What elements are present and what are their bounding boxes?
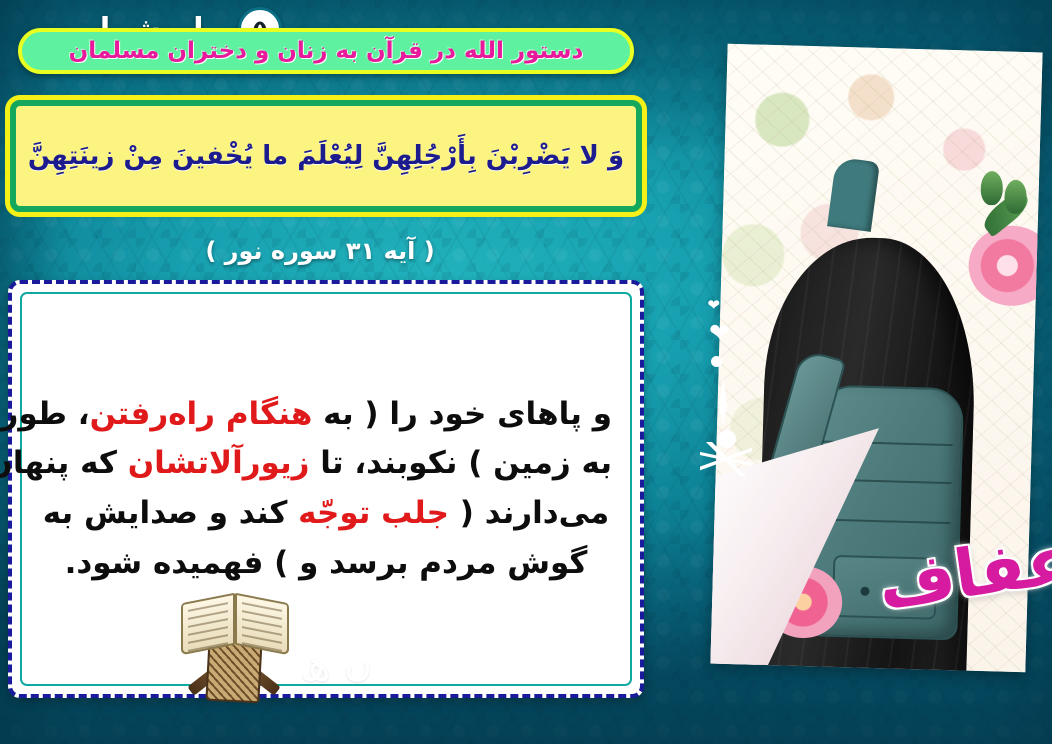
swirl-ornament: ں (344, 644, 372, 682)
translation-line-1-part-a: و پاهای خود را ( به (312, 396, 612, 432)
translation-line-2-part-b: که پنهان (0, 445, 128, 481)
calligraphy-ornament: عفاف (897, 470, 1052, 676)
quran-right-page (235, 593, 289, 655)
translation-line-1-highlight: هنگام راه‌رفتن (90, 396, 313, 432)
topic-banner-label: دستور الله در قرآن به زنان و دختران مسلم… (69, 38, 584, 64)
translation-line-3-part-b: کند و صدایش به (43, 495, 298, 531)
dot-ornament (711, 356, 722, 367)
translation-inner-frame: و پاهای خود را ( به هنگام راه‌رفتن، طوری… (20, 292, 632, 686)
translation-line-2-highlight: زیورآلاتشان (128, 445, 310, 481)
swirl-ornament: ھ (300, 644, 331, 688)
open-quran-icon (181, 598, 289, 654)
flower-bud-icon (1004, 180, 1027, 215)
heart-icon: ❤ (709, 318, 730, 347)
verse-citation-label: ( آیه ۳۱ سوره نور ) (205, 237, 434, 265)
slide-canvas: ۵ پیام شماره دستور الله در قرآن به زنان … (0, 0, 1052, 744)
quran-left-page (181, 593, 235, 655)
translation-line-1-part-b: ، طوری (0, 396, 90, 432)
translation-line-3-highlight: جلب توجّه (298, 495, 449, 531)
verse-citation: ( آیه ۳۱ سوره نور ) (0, 232, 640, 270)
translation-line-3: می‌دارند ( جلب توجّه کند و صدایش به (40, 498, 612, 530)
splash-ornament (700, 442, 752, 476)
translation-line-1: و پاهای خود را ( به هنگام راه‌رفتن، طوری (40, 399, 612, 431)
topic-banner: دستور الله در قرآن به زنان و دختران مسلم… (18, 28, 634, 74)
heart-icon: ❤ (707, 296, 720, 314)
quran-verse-box: وَ لا یَضْرِبْنَ بِأَرْجُلِهِنَّ لِیُعْل… (10, 100, 642, 212)
quran-verse-arabic: وَ لا یَضْرِبْنَ بِأَرْجُلِهِنَّ لِیُعْل… (18, 137, 634, 176)
flower-bud-icon (980, 171, 1003, 206)
translation-line-2-part-a: به زمین ) نکوبند، تا (309, 445, 612, 481)
quran-on-rehal-icon (175, 590, 295, 702)
translation-line-4: گوش مردم برسد و ) فهمیده شود. (40, 548, 612, 580)
translation-line-2: به زمین ) نکوبند، تا زیورآلاتشان که پنها… (40, 448, 612, 480)
calligraphy-label: عفاف (875, 532, 1052, 615)
translation-line-3-part-a: می‌دارند ( (449, 495, 609, 531)
translation-box: و پاهای خود را ( به هنگام راه‌رفتن، طوری… (8, 280, 644, 698)
